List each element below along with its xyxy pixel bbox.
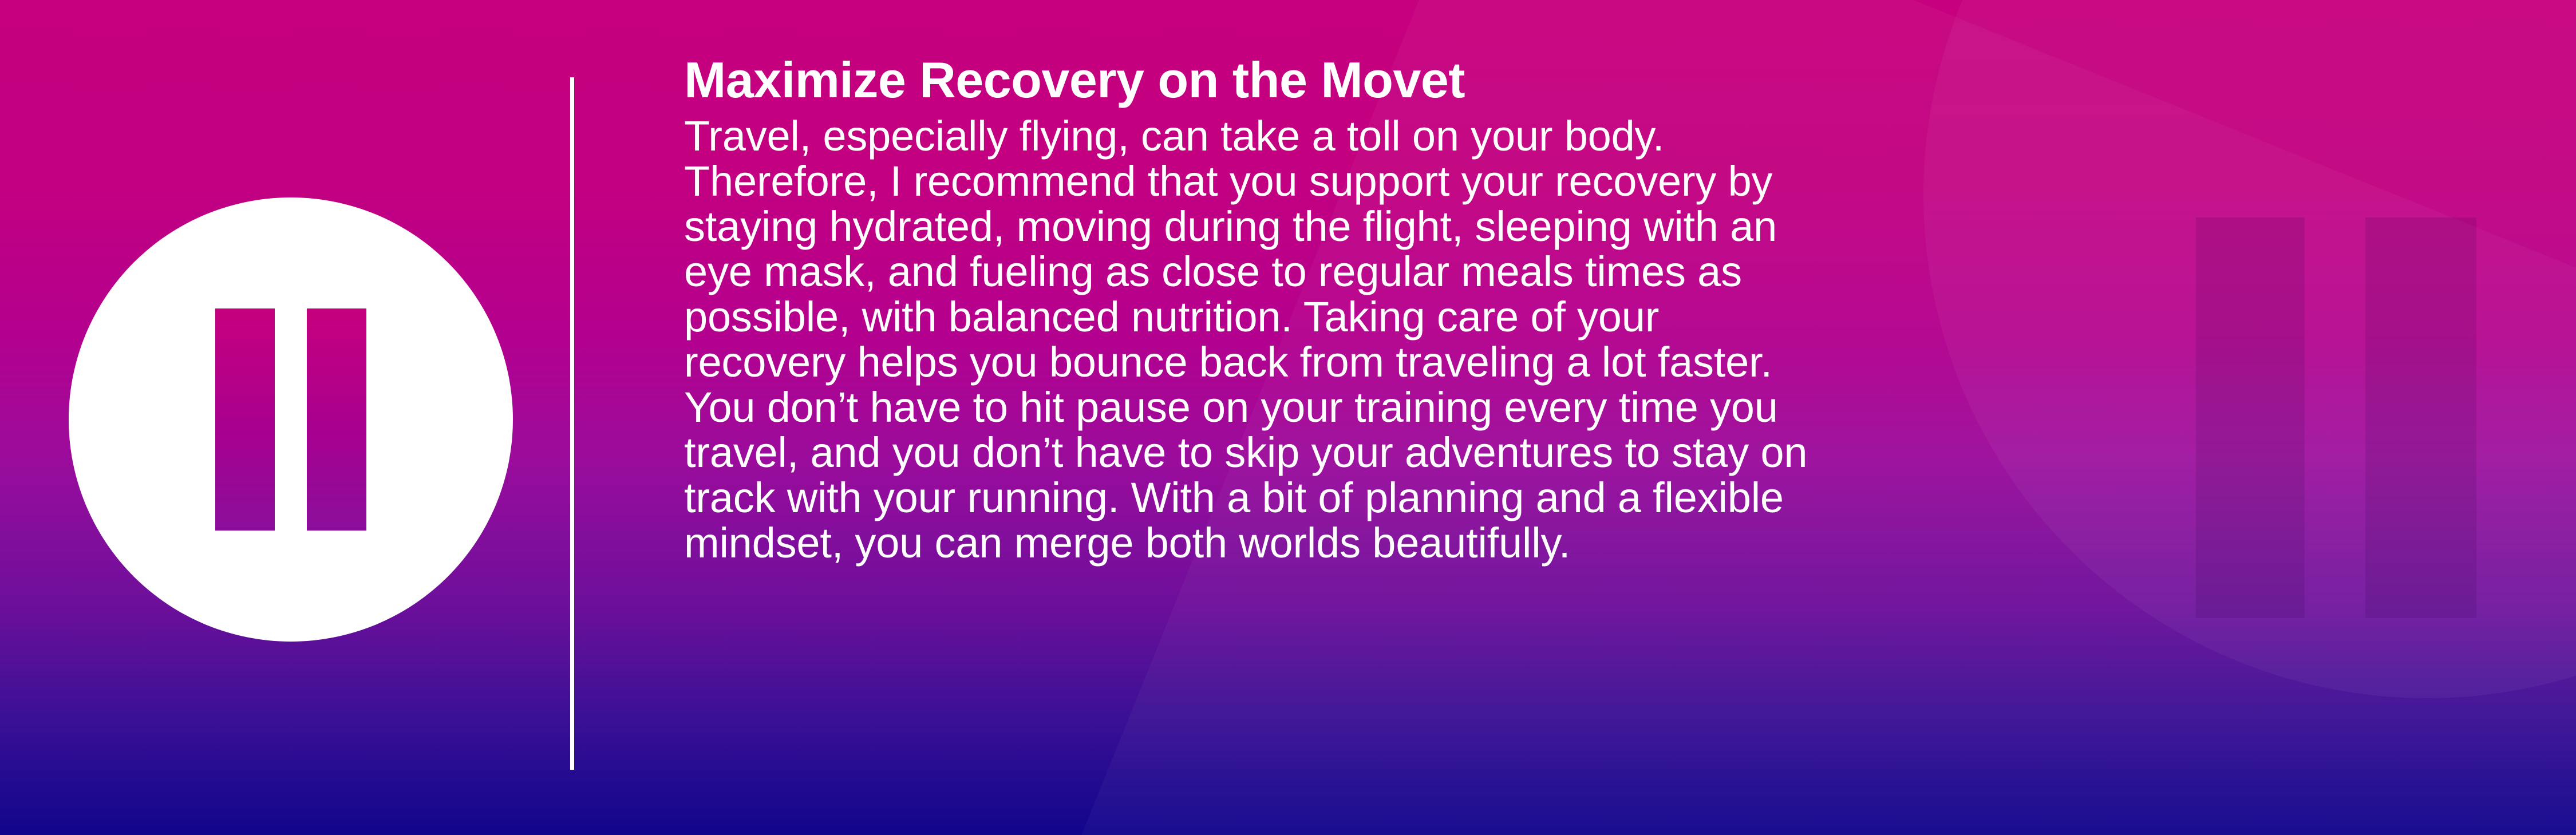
body-line: recovery helps you bounce back from trav… xyxy=(684,339,2459,385)
pause-icon-bar-left xyxy=(215,308,275,531)
promo-card: Maximize Recovery on the Movet Travel, e… xyxy=(0,0,2576,835)
body-line: You don’t have to hit pause on your trai… xyxy=(684,385,2459,430)
vertical-divider xyxy=(570,77,574,770)
body-line: travel, and you don’t have to skip your … xyxy=(684,430,2459,475)
card-body: Travel, especially flying, can take a to… xyxy=(684,113,2459,565)
body-line: eye mask, and fueling as close to regula… xyxy=(684,249,2459,294)
body-line: Travel, especially flying, can take a to… xyxy=(684,113,2459,159)
card-title: Maximize Recovery on the Movet xyxy=(684,55,2459,105)
body-line: track with your running. With a bit of p… xyxy=(684,475,2459,520)
pause-icon-bar-right xyxy=(307,308,366,531)
pause-icon xyxy=(215,308,366,531)
body-line: staying hydrated, moving during the flig… xyxy=(684,204,2459,249)
body-line: mindset, you can merge both worlds beaut… xyxy=(684,520,2459,565)
text-column: Maximize Recovery on the Movet Travel, e… xyxy=(684,55,2459,565)
pause-icon-badge xyxy=(69,197,513,642)
body-line: Therefore, I recommend that you support … xyxy=(684,159,2459,204)
body-line: possible, with balanced nutrition. Takin… xyxy=(684,294,2459,339)
